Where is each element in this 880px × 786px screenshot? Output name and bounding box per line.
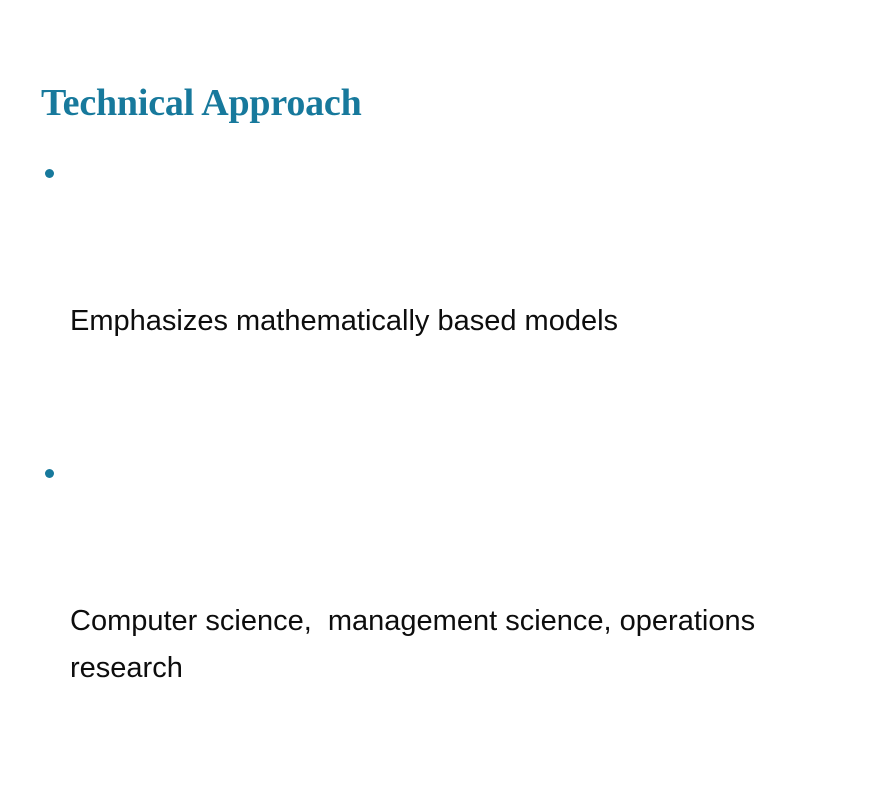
bullet-item-label: Computer science, management science, op… bbox=[70, 598, 841, 692]
bullet-list-item: Emphasizes mathematically based models bbox=[41, 157, 841, 439]
presentation-slide: Technical Approach Emphasizes mathematic… bbox=[0, 0, 880, 660]
slide-body-content: Emphasizes mathematically based models C… bbox=[41, 157, 841, 786]
bullet-dot-icon bbox=[45, 469, 54, 478]
bullet-list-item: Computer science, management science, op… bbox=[41, 457, 841, 786]
bullet-item-label: Emphasizes mathematically based models bbox=[70, 298, 841, 345]
bullet-dot-icon bbox=[45, 169, 54, 178]
slide-title: Technical Approach bbox=[41, 81, 362, 125]
